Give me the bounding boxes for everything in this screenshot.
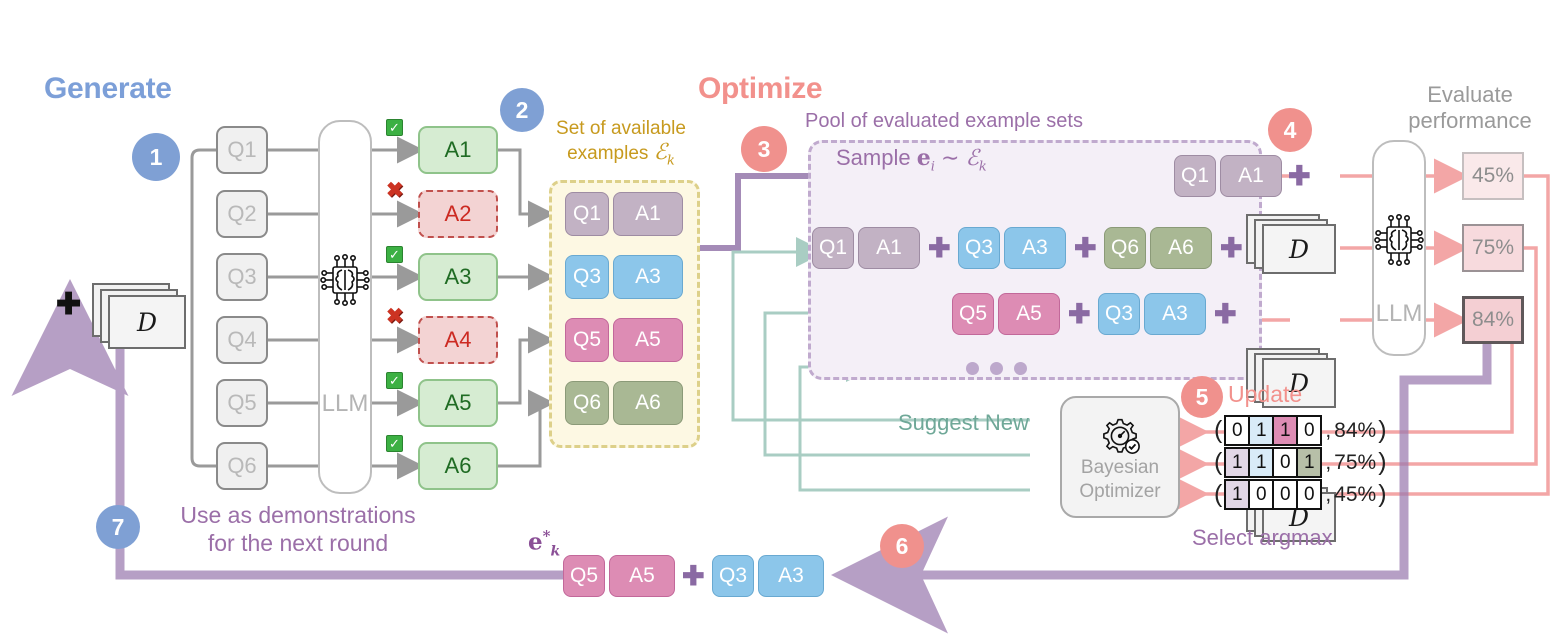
score-box-84: 84% [1462,296,1524,344]
question-box-q4: Q4 [216,316,268,364]
update-bits-1: 0 1 1 0 [1224,415,1322,446]
bit-cell: 0 [1296,479,1322,510]
example-chip-a6: A6 [613,381,683,425]
step7-label-line1: Use as demonstrations [180,502,415,528]
bayesian-optimizer-box: Bayesian Optimizer [1060,396,1180,518]
answer-box-a3: A3 [418,253,498,301]
update-comma-2: , [1322,451,1331,475]
bit-cell: 0 [1248,479,1274,510]
pool-r3-plus-icon-1: ✚ [1068,301,1091,328]
pool-r2-plus-icon-3: ✚ [1220,235,1243,262]
example-chip-q5: Q5 [565,318,609,362]
pool-r2-chip-q3: Q3 [958,227,1000,269]
step-badge-4: 4 [1268,108,1312,152]
correct-check-icon-a3: ✓ [386,246,403,263]
pool-r1-plus-icon: ✚ [1288,163,1311,190]
example-chip-a3: A3 [613,255,683,299]
question-box-q2: Q2 [216,190,268,238]
example-chip-a5: A5 [613,318,683,362]
correct-check-icon-a6: ✓ [386,435,403,452]
update-bits-2: 1 1 0 1 [1224,447,1322,478]
optimizer-label-line2: Optimizer [1079,481,1160,502]
question-box-q5: Q5 [216,379,268,427]
update-open-paren-3: ( [1212,480,1224,509]
bit-cell: 1 [1224,479,1250,510]
update-close-paren-3: ) [1376,480,1388,509]
update-row-84: ( 0 1 1 0 , 84% ) [1212,415,1389,446]
pool-r3-chip-a5: A5 [998,293,1060,335]
score-box-75: 75% [1462,224,1524,272]
pool-r2-plus-icon-2: ✚ [1074,235,1097,262]
best-set-chip-a3: A3 [758,555,824,597]
pool-caption: Pool of evaluated example sets [805,110,1083,133]
example-set-caption-line2: examples [567,143,648,164]
llm-brain-chip-icon-evaluate [1376,210,1422,272]
update-open-paren-1: ( [1212,416,1224,445]
bit-cell: 1 [1272,415,1298,446]
example-set-caption: Set of available examples ℰk [532,118,710,169]
best-set-chip-q3: Q3 [712,555,754,597]
update-row-45: ( 1 0 0 0 , 45% ) [1212,479,1389,510]
step-badge-6: 6 [880,524,924,568]
llm-brain-chip-icon [322,250,368,312]
example-chip-a1: A1 [613,192,683,236]
bit-cell: 1 [1248,447,1274,478]
answer-box-a6: A6 [418,442,498,490]
evaluate-caption: Evaluate performance [1390,82,1550,134]
sample-tilde: ∼ [941,145,959,170]
sample-pre: Sample [836,145,911,170]
dataset-stack-eval-1: D [1246,214,1342,276]
dataset-stack-input: D [92,283,188,349]
answer-box-a1: A1 [418,126,498,174]
incorrect-cross-icon-a4: ✖ [386,306,404,327]
example-chip-q1: Q1 [565,192,609,236]
example-chip-q6: Q6 [565,381,609,425]
best-set-plus-icon: ✚ [682,563,705,590]
dataset-symbol-D: D [108,295,186,349]
pool-r1-chip-q1: Q1 [1174,155,1216,197]
update-comma-3: , [1322,483,1331,507]
pool-r2-chip-q6: Q6 [1104,227,1146,269]
bit-cell: 0 [1272,479,1298,510]
optimizer-label-line1: Bayesian [1081,457,1159,478]
dataset-symbol-D-1: D [1262,224,1336,274]
update-score-2: 75% [1331,451,1376,475]
bit-cell: 1 [1296,447,1322,478]
sample-set-E: ℰk [966,146,987,171]
llm-label-evaluate: LLM [1372,300,1426,328]
diagram-canvas: Generate 1 ✚ D Q1 Q2 Q3 Q4 Q5 Q6 LLM ✓ [0,0,1566,636]
step-badge-5: 5 [1181,376,1223,418]
example-chip-q3: Q3 [565,255,609,299]
example-set-symbol: ℰk [654,140,675,165]
correct-check-icon-a1: ✓ [386,119,403,136]
update-open-paren-2: ( [1212,448,1224,477]
optimize-section-title: Optimize [698,72,822,106]
pool-ellipsis [966,362,1027,375]
pool-r2-plus-icon-1: ✚ [928,235,951,262]
llm-label-generate: LLM [318,390,372,418]
sample-vector-e: ei [917,145,935,171]
incorrect-cross-icon-a2: ✖ [386,180,404,201]
pool-r3-chip-q5: Q5 [952,293,994,335]
bit-cell: 1 [1248,415,1274,446]
update-score-1: 84% [1331,419,1376,443]
question-box-q1: Q1 [216,126,268,174]
bit-cell: 1 [1224,447,1250,478]
step-badge-1: 1 [132,133,180,181]
update-close-paren-2: ) [1376,448,1388,477]
select-argmax-label: Select argmax [1192,525,1333,551]
answer-box-a5: A5 [418,379,498,427]
gear-gauge-icon [1096,414,1144,456]
pool-r2-chip-a3: A3 [1004,227,1066,269]
generate-section-title: Generate [44,72,172,106]
bit-cell: 0 [1272,447,1298,478]
best-set-chip-a5: A5 [609,555,675,597]
pool-r3-chip-q3: Q3 [1098,293,1140,335]
update-label: Update [1228,381,1302,408]
left-plus-icon: ✚ [56,290,81,320]
optimizer-label: Bayesian Optimizer [1079,456,1160,504]
update-row-75: ( 1 1 0 1 , 75% ) [1212,447,1389,478]
update-close-paren-1: ) [1376,416,1388,445]
question-box-q6: Q6 [216,442,268,490]
pool-r3-chip-a3: A3 [1144,293,1206,335]
pool-r2-chip-a1: A1 [858,227,920,269]
step7-label-line2: for the next round [208,530,388,556]
answer-box-a2: A2 [418,190,498,238]
step7-label: Use as demonstrations for the next round [148,502,448,557]
pool-r2-chip-q1: Q1 [812,227,854,269]
question-box-q3: Q3 [216,253,268,301]
example-set-caption-line1: Set of available [556,118,686,139]
suggest-new-label: Suggest New [898,410,1029,436]
pool-r1-chip-a1: A1 [1220,155,1282,197]
best-set-symbol: e*k [528,527,560,559]
score-box-45: 45% [1462,152,1524,200]
answer-box-a4: A4 [418,316,498,364]
update-score-3: 45% [1331,483,1376,507]
correct-check-icon-a5: ✓ [386,372,403,389]
pool-r3-plus-icon-2: ✚ [1214,301,1237,328]
bit-cell: 0 [1224,415,1250,446]
step-badge-3: 3 [741,126,787,172]
bit-cell: 0 [1296,415,1322,446]
best-set-chip-q5: Q5 [563,555,605,597]
update-comma-1: , [1322,419,1331,443]
step-badge-7: 7 [96,505,140,549]
update-bits-3: 1 0 0 0 [1224,479,1322,510]
pool-sample-label: Sample ei ∼ ℰk [836,145,987,174]
pool-r2-chip-a6: A6 [1150,227,1212,269]
evaluate-caption-line1: Evaluate [1427,82,1513,107]
evaluate-caption-line2: performance [1408,108,1532,133]
